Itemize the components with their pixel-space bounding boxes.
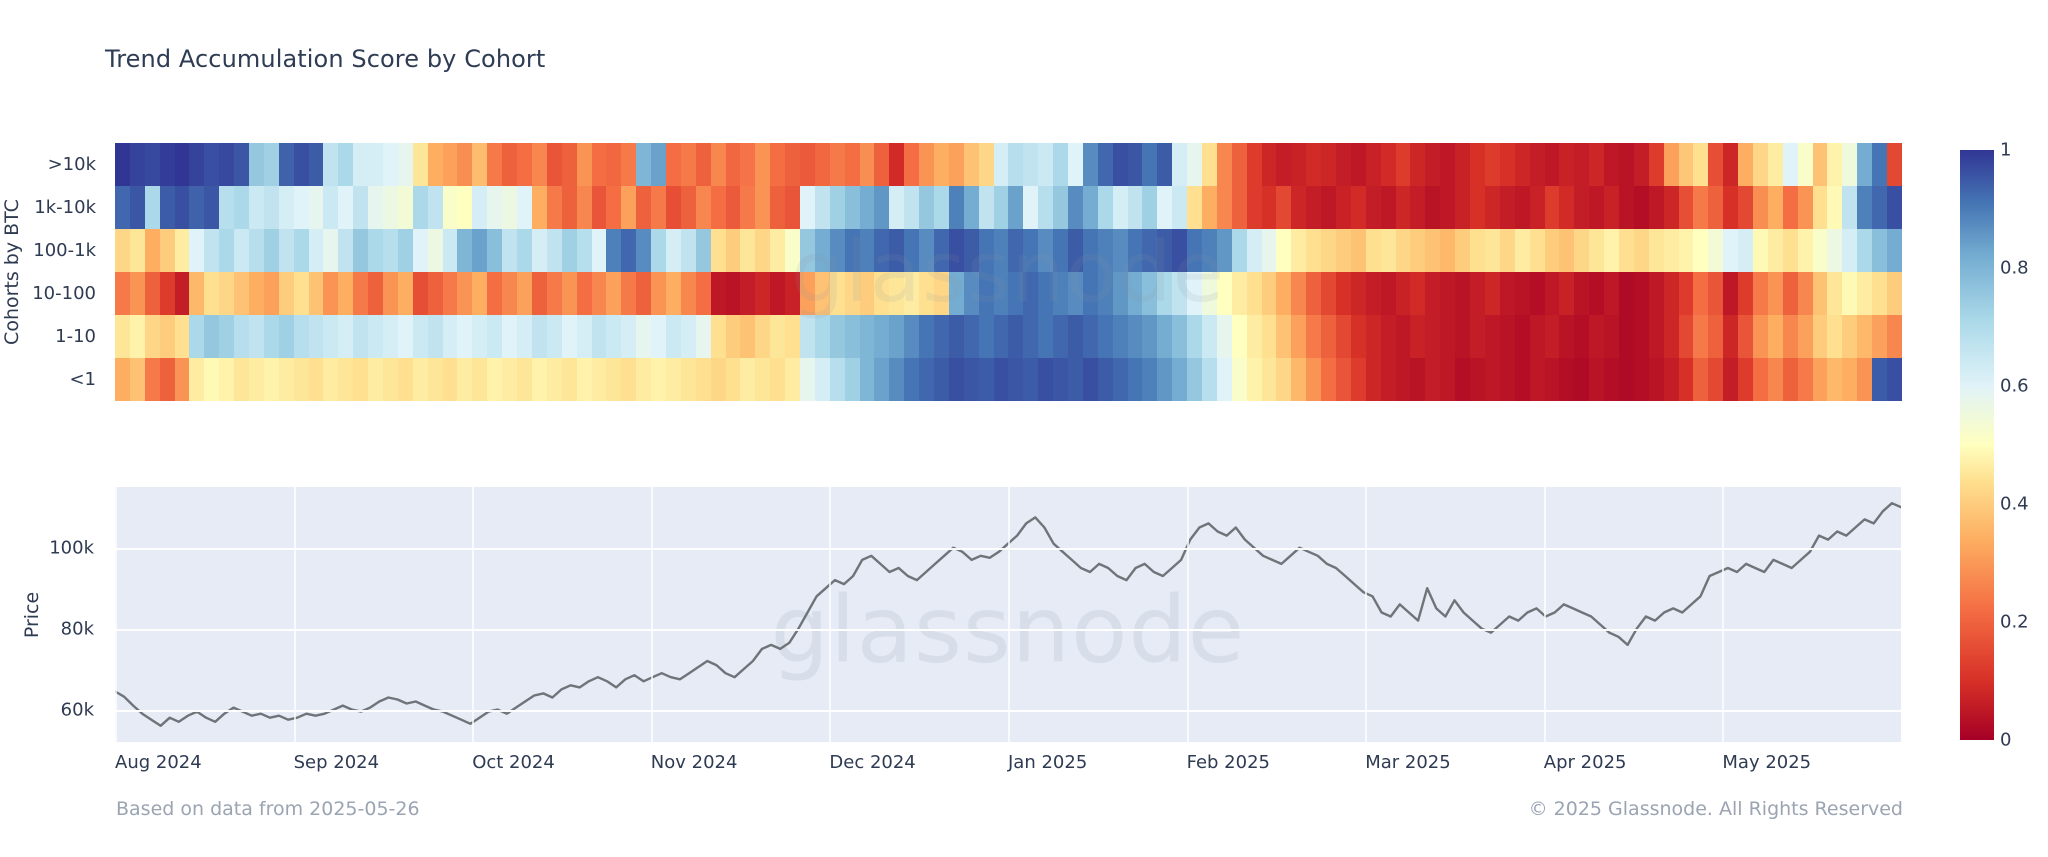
heatmap-cell: [1142, 143, 1157, 186]
heatmap-cell: [1887, 315, 1902, 358]
heatmap-cell: [1783, 272, 1798, 315]
heatmap-cell: [443, 358, 458, 401]
heatmap-cell: [1262, 358, 1277, 401]
heatmap-cell: [740, 272, 755, 315]
heatmap-cell: [1396, 358, 1411, 401]
heatmap-cell: [651, 143, 666, 186]
heatmap-cell: [428, 186, 443, 229]
heatmap-cell: [1887, 186, 1902, 229]
heatmap-cell: [696, 186, 711, 229]
heatmap-cell: [994, 272, 1009, 315]
heatmap-cell: [457, 272, 472, 315]
heatmap-cell: [264, 272, 279, 315]
heatmap-row: [115, 186, 1901, 229]
heatmap-cell: [577, 315, 592, 358]
heatmap-cell: [592, 186, 607, 229]
heatmap-cell: [457, 229, 472, 272]
heatmap-cell: [1172, 315, 1187, 358]
heatmap-cell: [338, 272, 353, 315]
heatmap-cell: [1872, 315, 1887, 358]
heatmap-cell: [294, 186, 309, 229]
heatmap-cell: [145, 143, 160, 186]
heatmap-cell: [309, 186, 324, 229]
heatmap-cell: [711, 229, 726, 272]
heatmap-cell: [815, 143, 830, 186]
colorbar: 10.80.60.40.20: [1960, 150, 1994, 740]
heatmap-cell: [1321, 143, 1336, 186]
heatmap-cell: [681, 186, 696, 229]
heatmap-cell: [1649, 358, 1664, 401]
heatmap-cell: [1857, 143, 1872, 186]
heatmap-cell: [964, 358, 979, 401]
heatmap-cell: [517, 272, 532, 315]
heatmap-cell: [845, 229, 860, 272]
heatmap-cell: [1485, 229, 1500, 272]
heatmap-cell: [294, 272, 309, 315]
heatmap-row: [115, 358, 1901, 401]
heatmap-cell: [1708, 143, 1723, 186]
colorbar-tick: 0.2: [2000, 612, 2029, 633]
heatmap-cell: [1708, 186, 1723, 229]
heatmap-cell: [1589, 272, 1604, 315]
heatmap-cell: [1574, 272, 1589, 315]
heatmap-cell: [1470, 315, 1485, 358]
heatmap-cell: [189, 315, 204, 358]
heatmap-cell: [577, 358, 592, 401]
heatmap-cell: [1217, 143, 1232, 186]
heatmap-cell: [428, 272, 443, 315]
heatmap-cell: [1440, 229, 1455, 272]
heatmap-cell: [1679, 229, 1694, 272]
heatmap-cell: [562, 272, 577, 315]
heatmap-cell: [428, 229, 443, 272]
heatmap-cell: [726, 272, 741, 315]
heatmap-cell: [770, 143, 785, 186]
heatmap-cell: [279, 315, 294, 358]
heatmap-cell: [830, 143, 845, 186]
heatmap-cell: [1664, 143, 1679, 186]
heatmap-cell: [1321, 229, 1336, 272]
heatmap-cell: [666, 229, 681, 272]
heatmap-cell: [1410, 272, 1425, 315]
price-gridline-vertical: [651, 487, 653, 742]
heatmap-cell: [1783, 229, 1798, 272]
heatmap-cell: [860, 315, 875, 358]
heatmap-cell: [443, 315, 458, 358]
heatmap-cell: [1515, 272, 1530, 315]
heatmap-cell: [815, 186, 830, 229]
heatmap-cell: [1515, 186, 1530, 229]
heatmap-cell: [949, 143, 964, 186]
heatmap-cell: [979, 229, 994, 272]
heatmap-cell: [1038, 229, 1053, 272]
heatmap-cell: [636, 143, 651, 186]
colorbar-tick: 0.8: [2000, 258, 2029, 279]
heatmap-cell: [1872, 358, 1887, 401]
heatmap-cell: [1128, 272, 1143, 315]
heatmap-row: [115, 143, 1901, 186]
heatmap-cell: [964, 186, 979, 229]
heatmap-cell: [130, 272, 145, 315]
heatmap-cell: [994, 315, 1009, 358]
heatmap-cell: [204, 229, 219, 272]
heatmap-cell: [1217, 186, 1232, 229]
heatmap-cell: [1723, 315, 1738, 358]
heatmap-cell: [681, 143, 696, 186]
heatmap-cell: [309, 143, 324, 186]
price-plot[interactable]: glassnode: [115, 487, 1901, 742]
heatmap-cell: [517, 229, 532, 272]
heatmap-cell: [830, 272, 845, 315]
price-gridline-vertical: [1008, 487, 1010, 742]
heatmap-cell: [219, 143, 234, 186]
heatmap-cell: [1857, 315, 1872, 358]
heatmap-cell: [1291, 358, 1306, 401]
heatmap-cell: [1530, 186, 1545, 229]
heatmap-cell: [726, 358, 741, 401]
heatmap-cell: [1202, 272, 1217, 315]
heatmap-cell: [1262, 143, 1277, 186]
heatmap-cell: [1619, 229, 1634, 272]
heatmap-cell: [1693, 229, 1708, 272]
heatmap-cell: [621, 229, 636, 272]
heatmap-cell: [472, 186, 487, 229]
heatmap-cell: [636, 315, 651, 358]
heatmap-cell: [1470, 143, 1485, 186]
heatmap-cell: [1664, 229, 1679, 272]
heatmap-cell: [1247, 229, 1262, 272]
heatmap-cell: [666, 272, 681, 315]
heatmap-cell: [1187, 358, 1202, 401]
heatmap-cell: [1798, 143, 1813, 186]
heatmap-cell: [1381, 272, 1396, 315]
heatmap-cell: [1768, 229, 1783, 272]
heatmap-cell: [994, 143, 1009, 186]
heatmap-cell: [175, 229, 190, 272]
price-y-tick-labels: 60k80k100k: [0, 487, 108, 742]
heatmap-cell: [1768, 143, 1783, 186]
heatmap-cell: [577, 143, 592, 186]
heatmap-cell: [994, 186, 1009, 229]
heatmap-cell: [1366, 143, 1381, 186]
heatmap-cell: [711, 143, 726, 186]
heatmap-cell: [1172, 186, 1187, 229]
heatmap-cell: [234, 186, 249, 229]
heatmap-cell: [949, 229, 964, 272]
price-gridline-vertical: [1365, 487, 1367, 742]
heatmap-cell: [353, 315, 368, 358]
heatmap-cell: [338, 229, 353, 272]
heatmap-cell: [1679, 358, 1694, 401]
heatmap-cell: [1381, 143, 1396, 186]
heatmap-rows: [115, 143, 1901, 401]
heatmap-cell: [294, 143, 309, 186]
heatmap-cell: [383, 143, 398, 186]
heatmap-cell: [889, 358, 904, 401]
heatmap-cell: [532, 272, 547, 315]
heatmap-cell: [1813, 272, 1828, 315]
heatmap-cell: [1634, 143, 1649, 186]
heatmap-cell: [860, 229, 875, 272]
heatmap-cell: [1098, 272, 1113, 315]
heatmap-cell: [1262, 315, 1277, 358]
x-axis-tick: Aug 2024: [115, 752, 202, 773]
heatmap-cell: [726, 229, 741, 272]
heatmap-cell: [1038, 272, 1053, 315]
heatmap-cell: [1083, 143, 1098, 186]
heatmap-cell: [904, 315, 919, 358]
heatmap-cell: [1321, 358, 1336, 401]
heatmap-cell: [1351, 315, 1366, 358]
heatmap-cell: [740, 143, 755, 186]
heatmap-cell: [934, 315, 949, 358]
heatmap-cell: [1023, 186, 1038, 229]
heatmap-cell: [264, 358, 279, 401]
heatmap-cell: [517, 143, 532, 186]
heatmap-cell: [472, 315, 487, 358]
heatmap-cell: [1500, 143, 1515, 186]
chart-page: Trend Accumulation Score by Cohort Cohor…: [0, 0, 2048, 857]
heatmap-cell: [115, 186, 130, 229]
heatmap-cell: [1634, 186, 1649, 229]
heatmap-cell: [726, 186, 741, 229]
heatmap-cell: [904, 143, 919, 186]
heatmap-cell: [800, 186, 815, 229]
heatmap-cell: [874, 143, 889, 186]
heatmap-cell: [175, 272, 190, 315]
heatmap-cell: [160, 272, 175, 315]
heatmap-cell: [1574, 143, 1589, 186]
heatmap-cell: [1276, 315, 1291, 358]
heatmap-cell: [1157, 143, 1172, 186]
heatmap-cell: [1485, 186, 1500, 229]
heatmap-cell: [1574, 315, 1589, 358]
heatmap-cell: [413, 143, 428, 186]
heatmap-cell: [711, 358, 726, 401]
heatmap-cell: [1083, 186, 1098, 229]
heatmap-cell: [547, 315, 562, 358]
heatmap-cell: [189, 272, 204, 315]
heatmap-cell: [1664, 358, 1679, 401]
heatmap-cell: [562, 315, 577, 358]
heatmap-cell: [651, 272, 666, 315]
heatmap-cell: [592, 272, 607, 315]
heatmap-cell: [606, 186, 621, 229]
heatmap-cell: [1068, 186, 1083, 229]
heatmap-cell: [889, 229, 904, 272]
heatmap-cell: [457, 186, 472, 229]
heatmap-cell: [1708, 272, 1723, 315]
heatmap-cell: [874, 186, 889, 229]
heatmap-cell: [428, 315, 443, 358]
heatmap-cell: [1038, 143, 1053, 186]
heatmap-cell: [1098, 186, 1113, 229]
heatmap-cell: [1842, 229, 1857, 272]
heatmap-cell: [279, 143, 294, 186]
heatmap-cell: [562, 143, 577, 186]
heatmap-cell: [800, 143, 815, 186]
heatmap-cell: [726, 315, 741, 358]
heatmap-cell: [1425, 358, 1440, 401]
heatmap-cell: [1783, 315, 1798, 358]
heatmap-cell: [1113, 229, 1128, 272]
heatmap-cell: [1366, 315, 1381, 358]
heatmap-cell: [1798, 186, 1813, 229]
heatmap-cell: [1083, 229, 1098, 272]
heatmap-cell: [219, 229, 234, 272]
heatmap-cell: [1217, 358, 1232, 401]
heatmap-cell: [919, 315, 934, 358]
heatmap-cell: [1515, 315, 1530, 358]
heatmap-cell: [904, 272, 919, 315]
heatmap-cell: [621, 186, 636, 229]
heatmap-cell: [1693, 186, 1708, 229]
heatmap-cell: [1321, 186, 1336, 229]
colorbar-gradient: [1960, 150, 1994, 740]
heatmap-cell: [249, 186, 264, 229]
heatmap-cell: [934, 186, 949, 229]
heatmap-cell: [1827, 229, 1842, 272]
heatmap-cell: [1083, 272, 1098, 315]
heatmap-cell: [1187, 143, 1202, 186]
heatmap-cell: [279, 272, 294, 315]
heatmap-cell: [1128, 143, 1143, 186]
heatmap-cell: [1113, 315, 1128, 358]
heatmap-cell: [577, 272, 592, 315]
heatmap-cell: [532, 315, 547, 358]
heatmap-cell: [1574, 229, 1589, 272]
heatmap-cell: [1425, 315, 1440, 358]
heatmap-cell: [487, 229, 502, 272]
heatmap-cell: [294, 315, 309, 358]
heatmap-cell: [785, 272, 800, 315]
heatmap-cell: [1217, 229, 1232, 272]
heatmap-cell: [1515, 229, 1530, 272]
x-axis-tick: Jan 2025: [1008, 752, 1087, 773]
heatmap-cell: [1545, 358, 1560, 401]
heatmap-cell: [889, 186, 904, 229]
heatmap-cell: [1440, 315, 1455, 358]
heatmap-cell: [1008, 186, 1023, 229]
heatmap-cell: [249, 315, 264, 358]
heatmap-cell: [636, 229, 651, 272]
heatmap-cell: [279, 186, 294, 229]
heatmap-cell: [130, 315, 145, 358]
heatmap-cell: [1128, 358, 1143, 401]
price-ytick: 80k: [61, 618, 94, 639]
heatmap-cell: [1425, 186, 1440, 229]
heatmap-cell: [383, 358, 398, 401]
heatmap-cell: [1634, 229, 1649, 272]
heatmap-cell: [204, 358, 219, 401]
heatmap-cell: [1038, 358, 1053, 401]
heatmap-cell: [726, 143, 741, 186]
heatmap-plot[interactable]: glassnode: [115, 143, 1901, 401]
heatmap-cell: [398, 358, 413, 401]
heatmap-cell: [1396, 186, 1411, 229]
heatmap-cell: [457, 315, 472, 358]
heatmap-cell: [1068, 143, 1083, 186]
heatmap-cell: [1113, 143, 1128, 186]
heatmap-cell: [1649, 272, 1664, 315]
heatmap-cell: [1008, 358, 1023, 401]
heatmap-cell: [1247, 186, 1262, 229]
heatmap-cell: [1232, 186, 1247, 229]
heatmap-cell: [1381, 315, 1396, 358]
heatmap-cell: [1306, 229, 1321, 272]
heatmap-cell: [1545, 143, 1560, 186]
heatmap-cell: [249, 272, 264, 315]
heatmap-cell: [383, 186, 398, 229]
heatmap-cell: [353, 229, 368, 272]
heatmap-cell: [398, 272, 413, 315]
heatmap-cell: [964, 315, 979, 358]
heatmap-cell: [1589, 315, 1604, 358]
heatmap-cell: [532, 186, 547, 229]
heatmap-cell: [770, 186, 785, 229]
heatmap-cell: [1291, 143, 1306, 186]
heatmap-cell: [860, 186, 875, 229]
heatmap-cell: [532, 358, 547, 401]
page-title: Trend Accumulation Score by Cohort: [105, 45, 545, 73]
heatmap-cell: [562, 229, 577, 272]
heatmap-cell: [1738, 315, 1753, 358]
heatmap-cell: [353, 358, 368, 401]
heatmap-cell: [175, 143, 190, 186]
heatmap-cell: [413, 358, 428, 401]
heatmap-cell: [487, 272, 502, 315]
heatmap-cell: [1232, 358, 1247, 401]
heatmap-cell: [1023, 315, 1038, 358]
heatmap-cell: [934, 229, 949, 272]
heatmap-cell: [532, 229, 547, 272]
heatmap-cell: [1768, 358, 1783, 401]
heatmap-cell: [1098, 315, 1113, 358]
heatmap-cell: [309, 229, 324, 272]
heatmap-cell: [1530, 315, 1545, 358]
heatmap-cell: [1440, 143, 1455, 186]
heatmap-cell: [1559, 358, 1574, 401]
heatmap-cell: [830, 358, 845, 401]
heatmap-cell: [889, 143, 904, 186]
heatmap-cell: [755, 229, 770, 272]
heatmap-cell: [1515, 143, 1530, 186]
heatmap-cell: [487, 315, 502, 358]
colorbar-tick-labels: 10.80.60.40.20: [2000, 150, 2048, 740]
heatmap-ytick: 100-1k: [0, 229, 110, 272]
heatmap-cell: [651, 358, 666, 401]
heatmap-cell: [1813, 229, 1828, 272]
heatmap-cell: [1500, 315, 1515, 358]
heatmap-cell: [1530, 358, 1545, 401]
heatmap-cell: [353, 143, 368, 186]
heatmap-cell: [1887, 358, 1902, 401]
heatmap-cell: [1664, 186, 1679, 229]
heatmap-cell: [1068, 315, 1083, 358]
heatmap-cell: [532, 143, 547, 186]
heatmap-cell: [592, 315, 607, 358]
heatmap-cell: [1053, 143, 1068, 186]
heatmap-cell: [1321, 315, 1336, 358]
heatmap-cell: [323, 315, 338, 358]
heatmap-cell: [1842, 143, 1857, 186]
heatmap-cell: [889, 315, 904, 358]
heatmap-cell: [1142, 229, 1157, 272]
heatmap-cell: [1410, 315, 1425, 358]
heatmap-cell: [1470, 229, 1485, 272]
heatmap-cell: [368, 143, 383, 186]
heatmap-cell: [1008, 272, 1023, 315]
